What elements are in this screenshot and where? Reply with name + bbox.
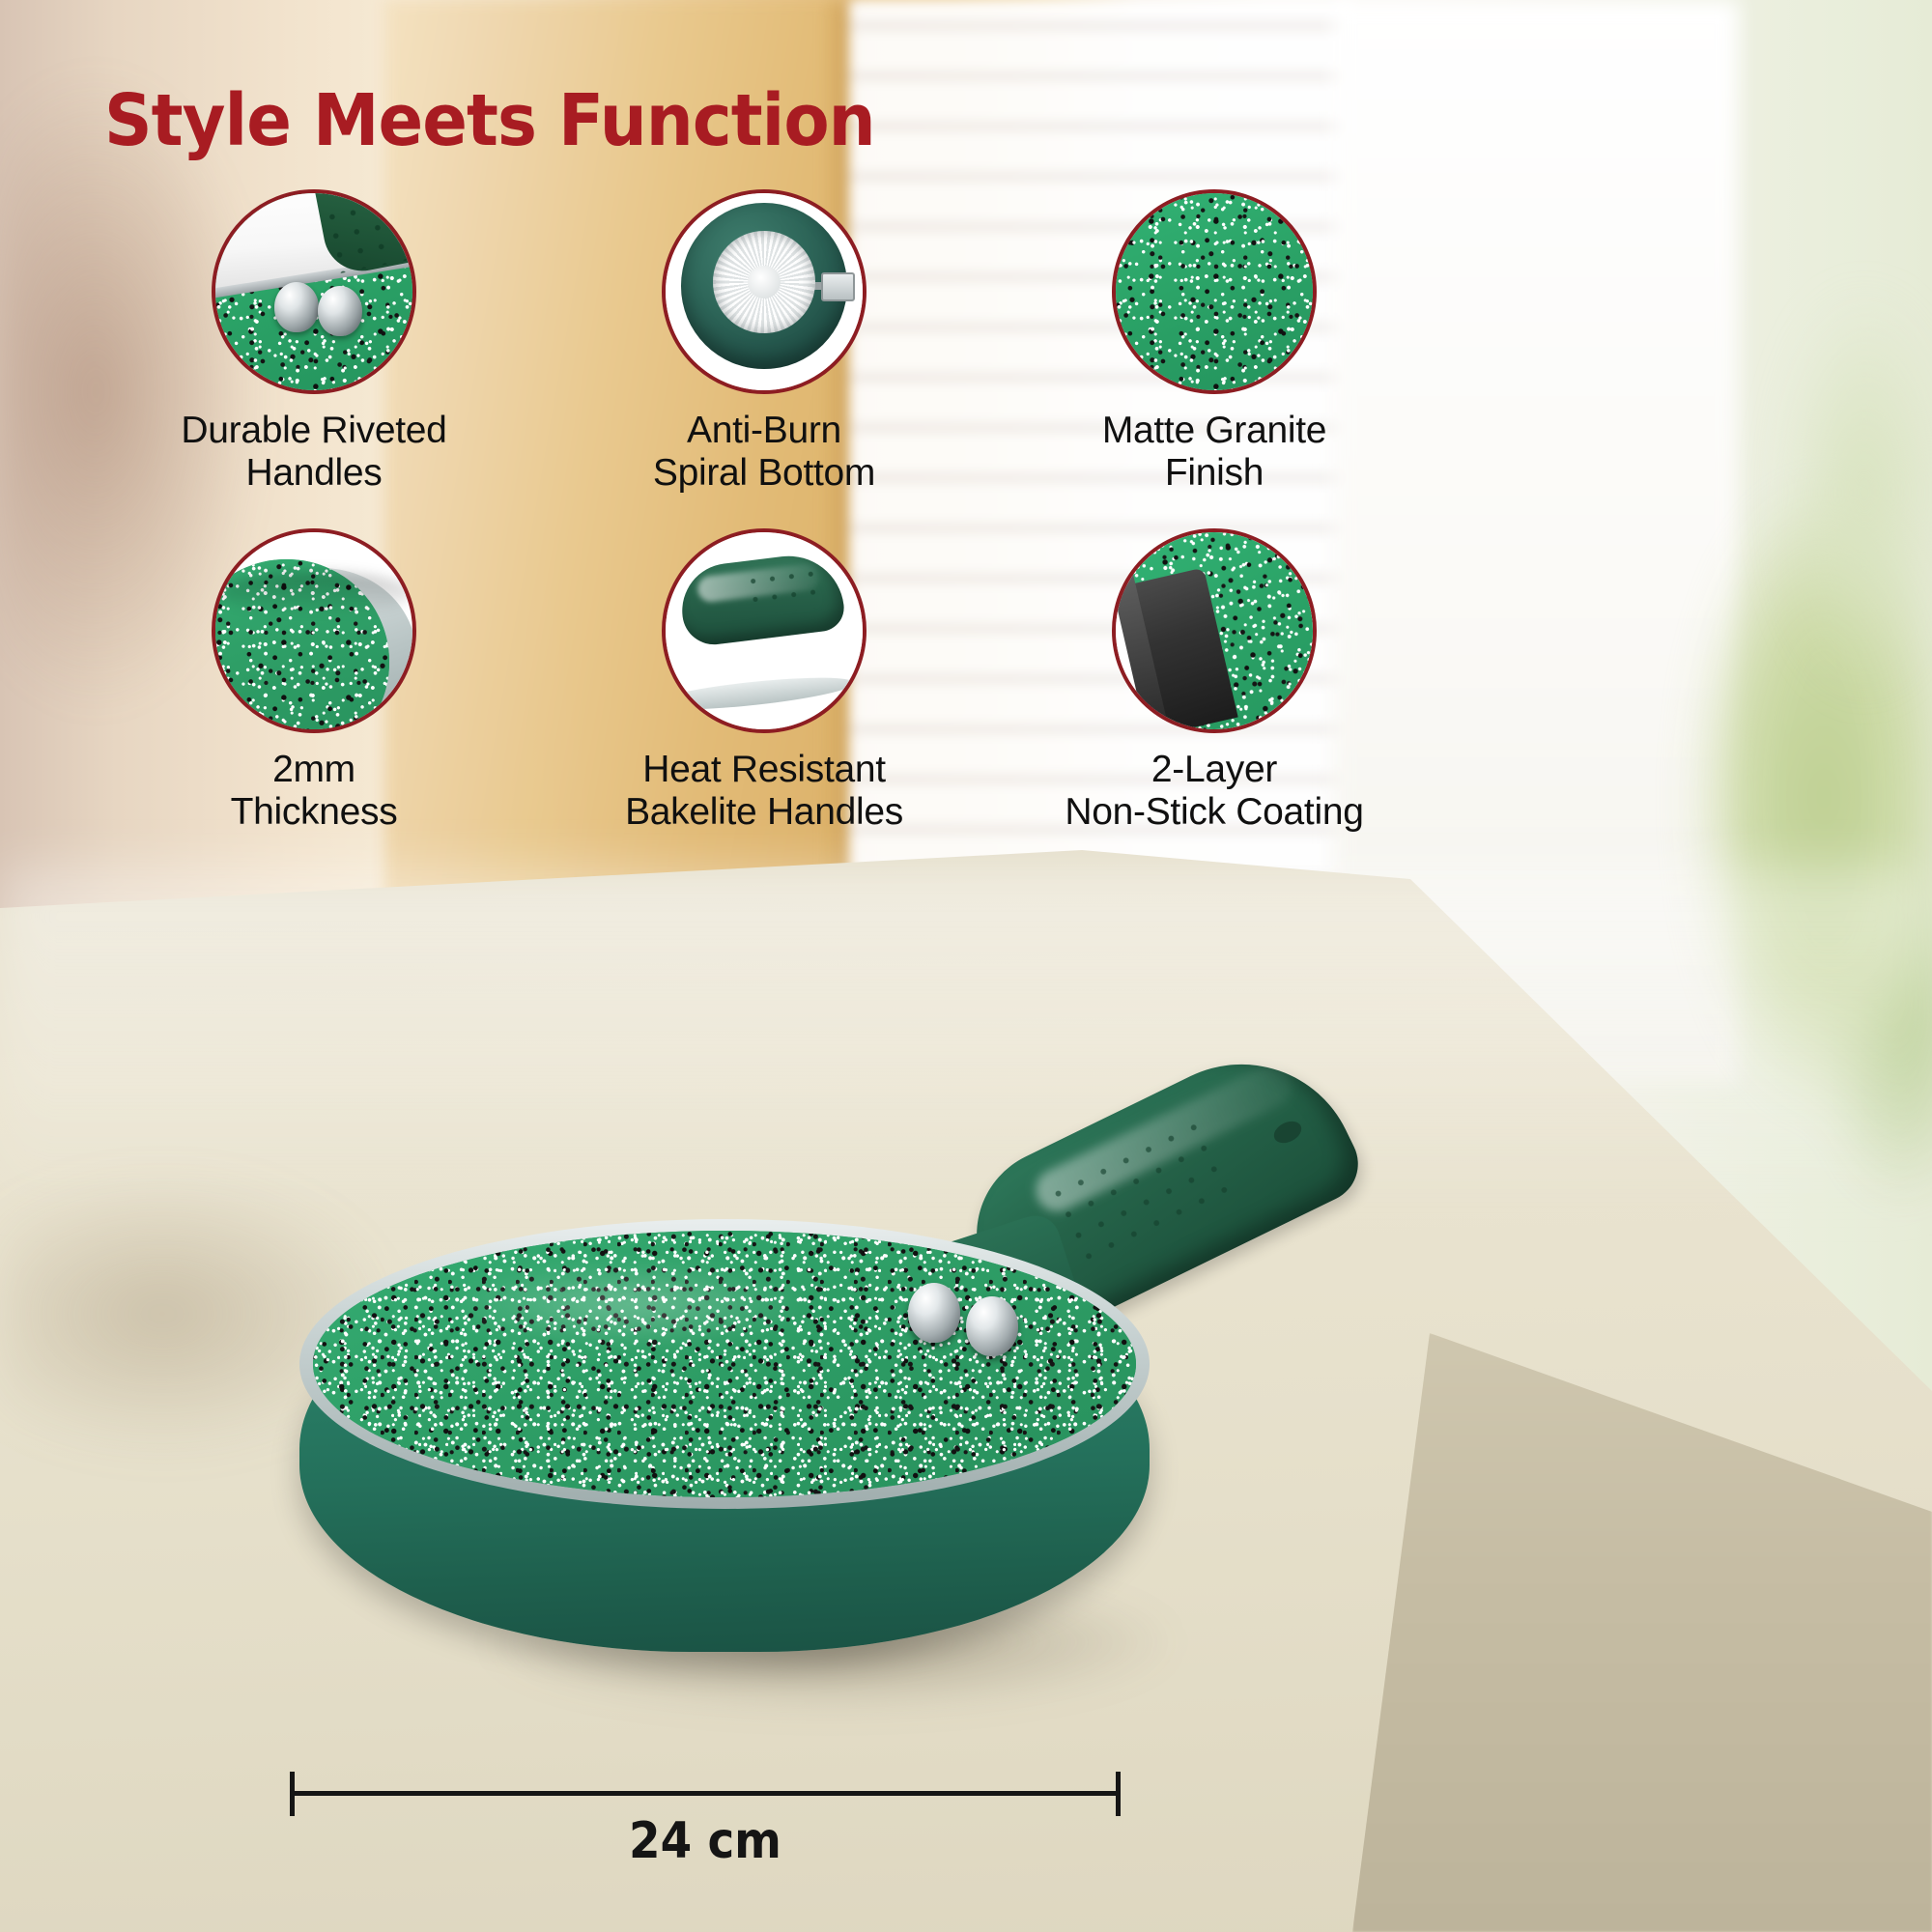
dimension-tick-left	[290, 1772, 295, 1816]
granite-texture	[1116, 193, 1313, 390]
feature-durable-riveted-handles[interactable]: Durable Riveted Handles	[89, 189, 539, 496]
rivet-icon	[318, 286, 362, 336]
feature-heat-resistant-bakelite-handles[interactable]: Heat Resistant Bakelite Handles	[539, 528, 989, 835]
green-foliage-secondary	[1768, 241, 1932, 744]
product-image-frying-pan	[290, 1130, 1381, 1748]
feature-row-2: 2mm Thickness Heat Resistant Bakelite Ha…	[89, 528, 1441, 835]
pan-wall-thickness-closeup-icon	[212, 528, 416, 733]
granite-texture-closeup-icon	[1112, 189, 1317, 394]
bakelite-handle-closeup-icon	[662, 528, 867, 733]
pan-interior-highlight	[377, 1246, 879, 1362]
feature-anti-burn-spiral-bottom[interactable]: Anti-Burn Spiral Bottom	[539, 189, 989, 496]
page-title: Style Meets Function	[104, 85, 875, 156]
rivet-icon	[274, 282, 319, 332]
feature-grid: Durable Riveted Handles Anti-Burn Spiral…	[89, 189, 1441, 835]
feature-label: 2-Layer Non-Stick Coating	[1065, 749, 1363, 835]
riveted-handle-closeup-icon	[212, 189, 416, 394]
coating-cross-section-closeup-icon	[1112, 528, 1317, 733]
feature-label: Matte Granite Finish	[1102, 410, 1326, 496]
feature-label: Anti-Burn Spiral Bottom	[653, 410, 875, 496]
feature-label: Heat Resistant Bakelite Handles	[625, 749, 903, 835]
dimension-callout: 24 cm	[290, 1766, 1121, 1882]
feature-2-layer-non-stick-coating[interactable]: 2-Layer Non-Stick Coating	[989, 528, 1439, 835]
feature-matte-granite-finish[interactable]: Matte Granite Finish	[989, 189, 1439, 496]
spiral-bottom-closeup-icon	[662, 189, 867, 394]
spiral-induction-base	[713, 231, 815, 333]
handle-mount-tab	[821, 272, 855, 302]
dimension-label: 24 cm	[331, 1812, 1079, 1870]
feature-row-1: Durable Riveted Handles Anti-Burn Spiral…	[89, 189, 1441, 496]
dimension-tick-right	[1116, 1772, 1121, 1816]
dimension-line	[290, 1791, 1121, 1796]
feature-label: 2mm Thickness	[231, 749, 398, 835]
feature-2mm-thickness[interactable]: 2mm Thickness	[89, 528, 539, 835]
rivet-icon	[966, 1296, 1018, 1356]
infographic-canvas: Style Meets Function Durable Riveted Han…	[0, 0, 1932, 1932]
feature-label: Durable Riveted Handles	[181, 410, 446, 496]
interior-shadow	[219, 572, 412, 615]
rivet-icon	[908, 1283, 960, 1343]
